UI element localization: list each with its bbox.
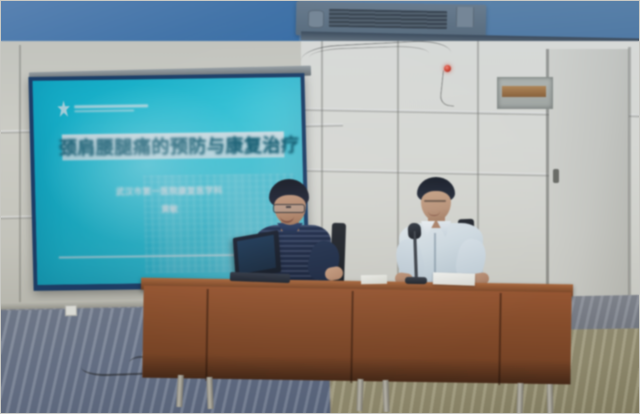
desk-leg xyxy=(516,383,523,414)
air-vent-grille-icon xyxy=(329,9,447,29)
wall-outlet[interactable] xyxy=(65,305,77,316)
wall-niche-interior xyxy=(502,86,546,97)
door-frame-edge-right xyxy=(628,47,631,301)
desk-leg xyxy=(382,380,389,412)
air-vent-vane-left xyxy=(308,10,324,28)
papers-stack-secondary[interactable] xyxy=(361,275,387,284)
papers-stack[interactable] xyxy=(433,272,475,285)
desk-leg xyxy=(356,379,363,411)
microphone-base xyxy=(405,277,427,284)
red-indicator-light-icon xyxy=(444,65,451,72)
desk-leg xyxy=(547,384,554,414)
conference-room-photograph: 颈肩腰腿痛的预防与康复治疗 武汉市第一医院康复医学科 黄敏 xyxy=(0,0,640,414)
moderator-brow xyxy=(424,200,446,202)
desk-leg xyxy=(206,377,213,409)
door-handle[interactable] xyxy=(553,169,559,183)
presenter-hand xyxy=(324,266,344,282)
air-vent-vane-right xyxy=(456,7,474,27)
wall-seam-vertical xyxy=(19,45,21,303)
glasses-bridge xyxy=(286,206,291,208)
laptop-screen xyxy=(237,235,276,274)
door[interactable] xyxy=(549,49,629,299)
moderator-face xyxy=(421,191,451,221)
